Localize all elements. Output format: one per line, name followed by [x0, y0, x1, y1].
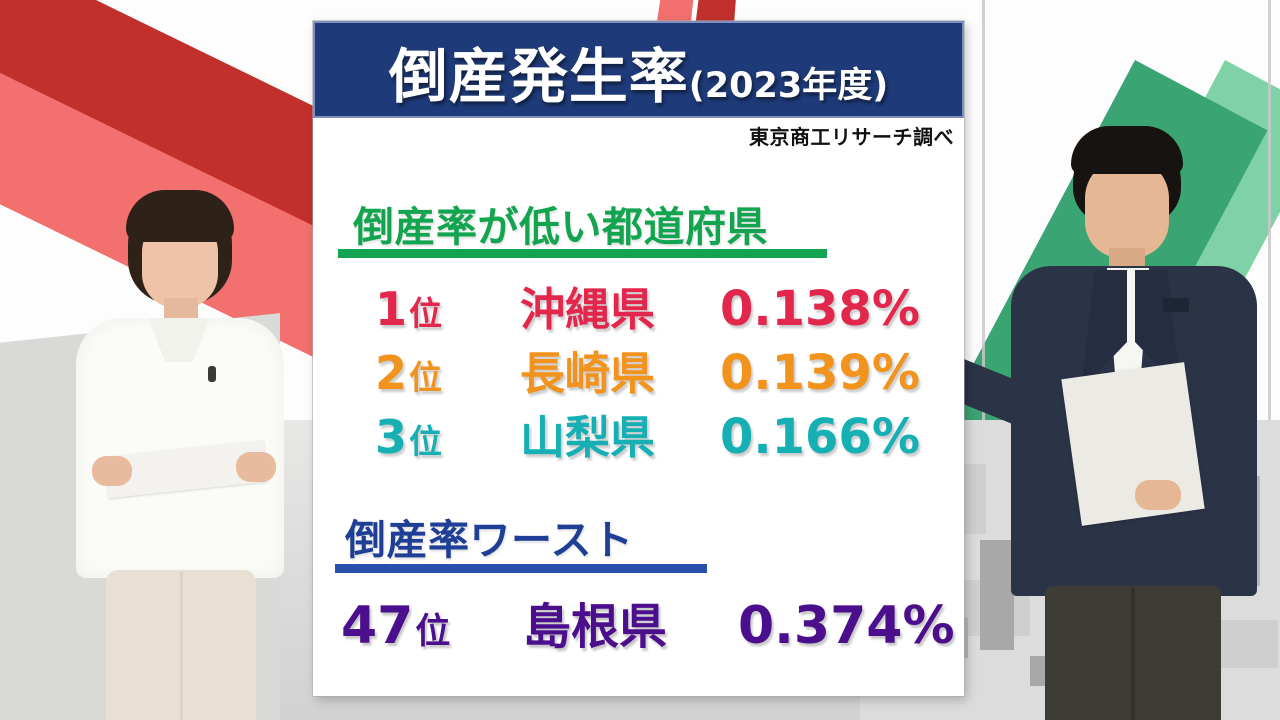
rank-unit: 位	[409, 351, 442, 399]
rank-cell: 3 位	[375, 410, 520, 464]
script-paper	[1061, 362, 1204, 526]
rank-cell: 1 位	[375, 282, 520, 336]
hand-right	[236, 452, 276, 482]
section-heading-lowest: 倒産率が低い都道府県	[353, 193, 768, 253]
trouser-seam	[1131, 588, 1135, 720]
prefecture-cell: 沖縄県	[520, 273, 720, 338]
table-row: 2 位 長崎県 0.139%	[375, 337, 920, 402]
table-row: 3 位 山梨県 0.166%	[375, 401, 920, 466]
rate-value-cell: 0.139%	[720, 345, 920, 401]
prefecture-cell: 長崎県	[520, 337, 720, 402]
rank-unit: 位	[409, 415, 442, 463]
rank-number: 47	[341, 596, 413, 656]
hand-left	[92, 456, 132, 486]
presenter-left-female	[40, 180, 310, 720]
rank-cell: 47 位	[341, 596, 523, 656]
source-attribution: 東京商工リサーチ調べ	[749, 121, 954, 150]
section-underline-green	[338, 249, 827, 258]
prefecture-cell: 山梨県	[520, 401, 720, 466]
rank-number: 3	[375, 410, 407, 464]
panel-header: 倒産発生率 (2023年度)	[313, 21, 964, 118]
rank-unit: 位	[415, 603, 450, 654]
title-main-text: 倒産発生率	[389, 29, 689, 114]
pocket-square	[1163, 298, 1189, 312]
rank-unit: 位	[409, 287, 442, 335]
hair-front	[126, 190, 234, 242]
section-heading-worst: 倒産率ワースト	[345, 506, 633, 566]
table-row: 47 位 島根県 0.374%	[341, 587, 955, 657]
prefecture-cell: 島根県	[523, 587, 738, 657]
hair-front	[1071, 126, 1183, 174]
presenter-right-male	[985, 120, 1280, 720]
broadcast-screenshot: 倒産発生率 (2023年度) 東京商工リサーチ調べ 倒産率が低い都道府県 1 位…	[0, 0, 1280, 720]
info-graphic-panel: 倒産発生率 (2023年度) 東京商工リサーチ調べ 倒産率が低い都道府県 1 位…	[313, 21, 964, 696]
trouser-seam	[180, 572, 183, 720]
hand-holding-paper	[1135, 480, 1181, 510]
rate-value-cell: 0.138%	[720, 281, 920, 337]
lapel-microphone-icon	[208, 366, 216, 382]
rate-value-cell: 0.374%	[738, 596, 955, 656]
rank-number: 2	[375, 346, 407, 400]
page-title: 倒産発生率 (2023年度)	[389, 29, 888, 114]
rate-value-cell: 0.166%	[720, 409, 920, 465]
table-row: 1 位 沖縄県 0.138%	[375, 273, 920, 338]
rank-number: 1	[375, 282, 407, 336]
title-subtitle-year: (2023年度)	[689, 57, 888, 108]
section-underline-blue	[335, 564, 707, 573]
rank-cell: 2 位	[375, 346, 520, 400]
